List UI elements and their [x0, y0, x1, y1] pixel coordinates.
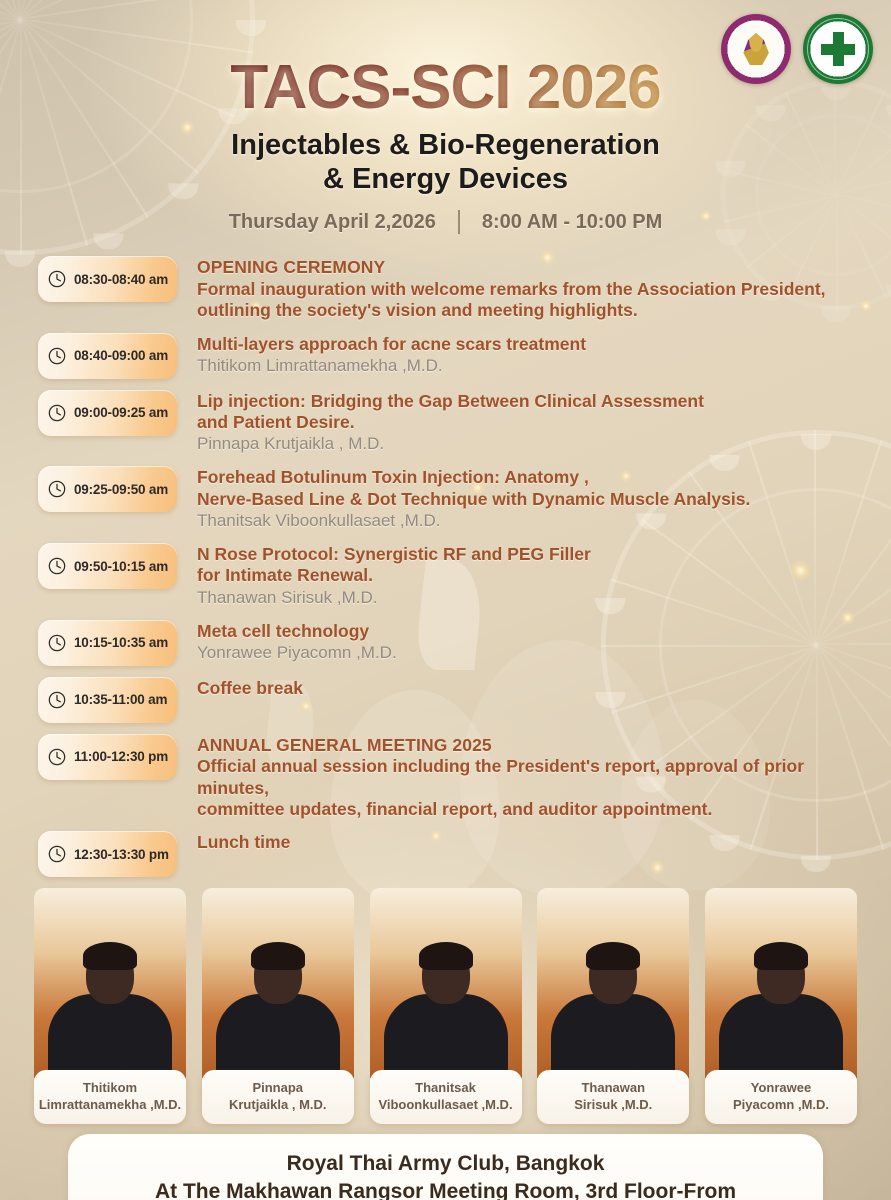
- time-slot-label: 09:25-09:50 am: [74, 482, 168, 497]
- session-title-line: N Rose Protocol: Synergistic RF and PEG …: [197, 544, 865, 565]
- wheel-cabin: [93, 233, 123, 249]
- time-slot-label: 10:35-11:00 am: [74, 692, 167, 707]
- speaker-card: Pinnapa Krutjaikla , M.D.: [202, 888, 354, 1124]
- speaker-name-label: Pinnapa Krutjaikla , M.D.: [229, 1080, 327, 1113]
- session-title-line: ANNUAL GENERAL MEETING 2025: [197, 735, 865, 756]
- subtitle-line-2: & Energy Devices: [0, 163, 891, 197]
- session-title-line: Lunch time: [197, 832, 865, 853]
- clock-icon: [47, 479, 67, 499]
- speaker-name-label: Thanitsak Viboonkullasaet ,M.D.: [378, 1080, 512, 1113]
- schedule-row: 12:30-13:30 pmLunch time: [38, 831, 865, 877]
- session-title-line: committee updates, financial report, and…: [197, 799, 865, 820]
- session-title-line: for Intimate Renewal.: [197, 565, 865, 586]
- session-title-line: Forehead Botulinum Toxin Injection: Anat…: [197, 467, 865, 488]
- time-slot-pill: 09:25-09:50 am: [38, 466, 177, 512]
- speaker-photo: [34, 888, 186, 1078]
- speaker-card: Thanawan Sirisuk ,M.D.: [537, 888, 689, 1124]
- session-details: Forehead Botulinum Toxin Injection: Anat…: [177, 466, 865, 532]
- speaker-name-card: Pinnapa Krutjaikla , M.D.: [202, 1070, 354, 1124]
- speaker-name-card: Thitikom Limrattanamekha ,M.D.: [34, 1070, 186, 1124]
- speaker-photo: [202, 888, 354, 1078]
- venue-line-1: Royal Thai Army Club, Bangkok: [88, 1150, 803, 1177]
- poster-subtitle: Injectables & Bio-Regeneration & Energy …: [0, 129, 891, 196]
- time-slot-label: 12:30-13:30 pm: [74, 847, 169, 862]
- session-details: Meta cell technologyYonrawee Piyacomn ,M…: [177, 620, 865, 664]
- subtitle-line-1: Injectables & Bio-Regeneration: [0, 129, 891, 163]
- divider: [458, 210, 460, 234]
- schedule-row: 10:15-10:35 amMeta cell technologyYonraw…: [38, 620, 865, 666]
- clock-icon: [47, 346, 67, 366]
- session-title-line: Formal inauguration with welcome remarks…: [197, 279, 865, 300]
- clock-icon: [47, 403, 67, 423]
- time-slot-label: 09:50-10:15 am: [74, 559, 168, 574]
- logo-group: [721, 14, 873, 84]
- time-slot-label: 11:00-12:30 pm: [74, 749, 168, 764]
- speaker-card: Yonrawee Piyacomn ,M.D.: [705, 888, 857, 1124]
- clock-icon: [47, 269, 67, 289]
- schedule-row: 09:00-09:25 amLip injection: Bridging th…: [38, 390, 865, 456]
- speaker-photo: [705, 888, 857, 1078]
- session-speaker: Yonrawee Piyacomn ,M.D.: [197, 642, 865, 664]
- clock-icon: [47, 844, 67, 864]
- time-slot-pill: 12:30-13:30 pm: [38, 831, 177, 877]
- session-details: Multi-layers approach for acne scars tre…: [177, 333, 865, 377]
- schedule-row: 09:25-09:50 amForehead Botulinum Toxin I…: [38, 466, 865, 532]
- session-speaker: Thitikom Limrattanamekha ,M.D.: [197, 355, 865, 377]
- date-time-bar: Thursday April 2,2026 8:00 AM - 10:00 PM: [0, 210, 891, 234]
- time-slot-pill: 09:50-10:15 am: [38, 543, 177, 589]
- session-title-line: Lip injection: Bridging the Gap Between …: [197, 391, 865, 412]
- time-slot-pill: 10:35-11:00 am: [38, 677, 177, 723]
- speaker-gallery: Thitikom Limrattanamekha ,M.D.Pinnapa Kr…: [0, 888, 891, 1124]
- session-speaker: Thanawan Sirisuk ,M.D.: [197, 587, 865, 609]
- tacs-society-logo: [721, 14, 791, 84]
- session-title-line: Official annual session including the Pr…: [197, 756, 865, 799]
- speaker-name-label: Thanawan Sirisuk ,M.D.: [574, 1080, 652, 1113]
- speaker-card: Thitikom Limrattanamekha ,M.D.: [34, 888, 186, 1124]
- clock-icon: [47, 633, 67, 653]
- session-speaker: Thanitsak Viboonkullasaet ,M.D.: [197, 510, 865, 532]
- session-title-line: outlining the society's vision and meeti…: [197, 300, 865, 321]
- session-details: OPENING CEREMONYFormal inauguration with…: [177, 256, 865, 321]
- speaker-name-card: Yonrawee Piyacomn ,M.D.: [705, 1070, 857, 1124]
- speaker-photo: [370, 888, 522, 1078]
- session-speaker: Pinnapa Krutjaikla , M.D.: [197, 433, 865, 455]
- speaker-name-label: Yonrawee Piyacomn ,M.D.: [733, 1080, 829, 1113]
- schedule-row: 10:35-11:00 amCoffee break: [38, 677, 865, 723]
- thai-clinic-association-logo: [803, 14, 873, 84]
- schedule-row: 08:40-09:00 amMulti-layers approach for …: [38, 333, 865, 379]
- speaker-name-card: Thanitsak Viboonkullasaet ,M.D.: [370, 1070, 522, 1124]
- event-time-range: 8:00 AM - 10:00 PM: [482, 211, 662, 234]
- time-slot-label: 10:15-10:35 am: [74, 635, 168, 650]
- clock-icon: [47, 747, 67, 767]
- time-slot-label: 08:40-09:00 am: [74, 348, 168, 363]
- session-details: Coffee break: [177, 677, 865, 699]
- session-details: Lunch time: [177, 831, 865, 853]
- session-title-line: Nerve-Based Line & Dot Technique with Dy…: [197, 489, 865, 510]
- conference-poster: TACS-SCI 2026 Injectables & Bio-Regenera…: [0, 0, 891, 1200]
- session-title-line: Multi-layers approach for acne scars tre…: [197, 334, 865, 355]
- session-title-line: Meta cell technology: [197, 621, 865, 642]
- speaker-name-label: Thitikom Limrattanamekha ,M.D.: [39, 1080, 181, 1113]
- schedule-row: 09:50-10:15 amN Rose Protocol: Synergist…: [38, 543, 865, 609]
- time-slot-pill: 09:00-09:25 am: [38, 390, 177, 436]
- time-slot-pill: 10:15-10:35 am: [38, 620, 177, 666]
- clock-icon: [47, 690, 67, 710]
- schedule-row: 11:00-12:30 pmANNUAL GENERAL MEETING 202…: [38, 734, 865, 820]
- session-details: N Rose Protocol: Synergistic RF and PEG …: [177, 543, 865, 609]
- time-slot-label: 09:00-09:25 am: [74, 405, 168, 420]
- time-slot-pill: 08:40-09:00 am: [38, 333, 177, 379]
- time-slot-pill: 08:30-08:40 am: [38, 256, 177, 302]
- time-slot-pill: 11:00-12:30 pm: [38, 734, 177, 780]
- clock-icon: [47, 556, 67, 576]
- session-details: ANNUAL GENERAL MEETING 2025Official annu…: [177, 734, 865, 820]
- session-details: Lip injection: Bridging the Gap Between …: [177, 390, 865, 456]
- session-title-line: OPENING CEREMONY: [197, 257, 865, 278]
- schedule-row: 08:30-08:40 amOPENING CEREMONYFormal ina…: [38, 256, 865, 321]
- venue-line-2: At The Makhawan Rangsor Meeting Room, 3r…: [88, 1178, 803, 1200]
- session-title-line: Coffee break: [197, 678, 865, 699]
- time-slot-label: 08:30-08:40 am: [74, 272, 168, 287]
- venue-panel: Royal Thai Army Club, Bangkok At The Mak…: [68, 1134, 823, 1200]
- event-date: Thursday April 2,2026: [229, 211, 436, 234]
- speaker-photo: [537, 888, 689, 1078]
- schedule-list: 08:30-08:40 amOPENING CEREMONYFormal ina…: [0, 256, 891, 877]
- speaker-name-card: Thanawan Sirisuk ,M.D.: [537, 1070, 689, 1124]
- speaker-card: Thanitsak Viboonkullasaet ,M.D.: [370, 888, 522, 1124]
- session-title-line: and Patient Desire.: [197, 412, 865, 433]
